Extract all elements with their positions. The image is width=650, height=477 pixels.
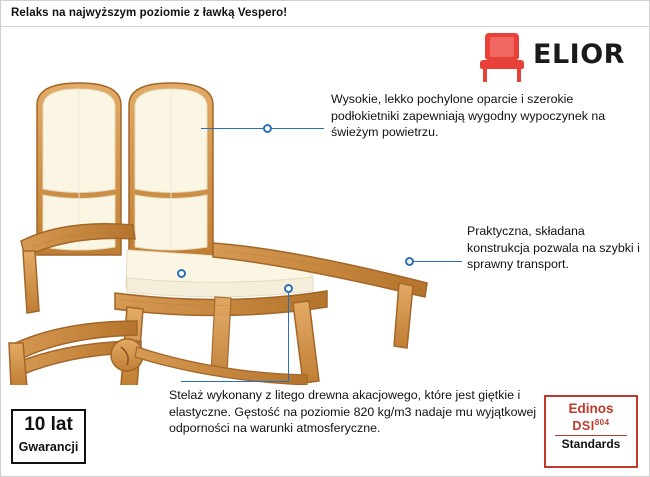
callout-text-folding: Praktyczna, składana konstrukcja pozwala… [467, 223, 643, 273]
product-infographic-page: Relaks na najwyższym poziomie z ławką Ve… [0, 0, 650, 477]
standards-badge: Edinos DSI804 Standards [544, 395, 638, 468]
page-title: Relaks na najwyższym poziomie z ławką Ve… [11, 7, 287, 19]
standards-word: Standards [546, 437, 636, 451]
warranty-years: 10 lat [13, 414, 84, 436]
standards-code-sup: 804 [595, 418, 610, 427]
header-divider [1, 26, 650, 27]
callout-leader-3 [288, 293, 289, 381]
callout-leader-3b [181, 381, 289, 382]
callout-leader-2 [414, 261, 462, 262]
callout-dot-1 [263, 124, 272, 133]
callout-leader-1 [201, 128, 263, 129]
callout-text-frame: Stelaż wykonany z litego drewna akacjowe… [169, 387, 537, 437]
callout-dot-3 [177, 269, 186, 278]
callout-text-backrest: Wysokie, lekko pochylone oparcie i szero… [331, 91, 631, 141]
callout-dot-4 [284, 284, 293, 293]
callout-leader-1b [272, 128, 324, 129]
standards-brand: Edinos [546, 401, 636, 416]
warranty-badge: 10 lat Gwarancji [11, 409, 86, 464]
standards-divider [555, 435, 627, 436]
brand-name: ELIOR [533, 39, 625, 70]
standards-code: DSI804 [546, 416, 636, 433]
warranty-label: Gwarancji [13, 440, 84, 454]
red-chair-icon [477, 31, 527, 83]
brand-logo: ELIOR [459, 31, 635, 83]
standards-code-text: DSI [572, 419, 594, 433]
callout-dot-2 [405, 257, 414, 266]
